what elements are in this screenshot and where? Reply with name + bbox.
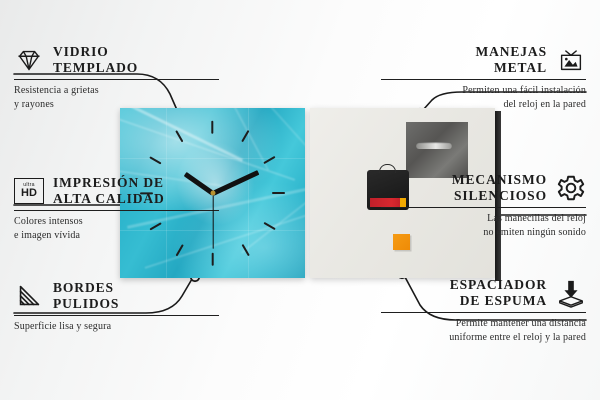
feature-vidrio-templado: VIDRIO TEMPLADO Resistencia a grietas y … <box>14 44 219 111</box>
feature-rule <box>14 315 219 317</box>
feature-title: MECANISMO SILENCIOSO <box>452 172 547 204</box>
feature-header: BORDES PULIDOS <box>14 280 219 312</box>
feature-bordes-pulidos: BORDES PULIDOS Superficie lisa y segura <box>14 280 219 334</box>
feature-rule <box>14 210 219 212</box>
polished-edge-icon <box>14 281 44 311</box>
gear-icon <box>556 173 586 203</box>
feature-description: Permiten una fácil instalación del reloj… <box>381 84 586 110</box>
picture-frame-hanger-icon <box>556 45 586 75</box>
feature-title: IMPRESIÓN DE ALTA CALIDAD <box>53 175 165 207</box>
diamond-icon <box>14 45 44 75</box>
glass-seam <box>120 158 305 159</box>
feature-title: ESPACIADOR DE ESPUMA <box>450 277 547 309</box>
feature-description: Colores intensos e imagen vívida <box>14 215 219 241</box>
feature-title: BORDES PULIDOS <box>53 280 119 312</box>
feature-header: MECANISMO SILENCIOSO <box>381 172 586 204</box>
clock-center-cap <box>210 191 215 196</box>
ultra-hd-icon: ultra HD <box>14 178 44 204</box>
feature-description: Superficie lisa y segura <box>14 320 219 333</box>
metal-hanger-plate <box>406 122 468 178</box>
feature-rule <box>381 312 586 314</box>
feature-header: MANEJAS METAL <box>381 44 586 76</box>
clock-tick <box>211 252 213 265</box>
feature-header: VIDRIO TEMPLADO <box>14 44 219 76</box>
feature-title: VIDRIO TEMPLADO <box>53 44 138 76</box>
feature-rule <box>14 79 219 81</box>
clock-tick <box>211 120 213 133</box>
feature-rule <box>381 79 586 81</box>
feature-espaciador-espuma: ESPACIADOR DE ESPUMA Permite mantener un… <box>381 277 586 344</box>
clock-hand <box>212 193 213 249</box>
feature-description: Resistencia a grietas y rayones <box>14 84 219 110</box>
feature-mecanismo-silencioso: MECANISMO SILENCIOSO Las manecillas del … <box>381 172 586 239</box>
feature-impresion-alta-calidad: ultra HD IMPRESIÓN DE ALTA CALIDAD Color… <box>14 175 219 242</box>
hanger-slot <box>416 142 452 149</box>
feature-rule <box>381 207 586 209</box>
infographic-canvas: VIDRIO TEMPLADO Resistencia a grietas y … <box>0 0 600 400</box>
arrow-foam-pad-icon <box>556 278 586 308</box>
feature-description: Las manecillas del reloj no emiten ningú… <box>381 212 586 238</box>
feature-manejas-metal: MANEJAS METAL Permiten una fácil instala… <box>381 44 586 111</box>
feature-header: ESPACIADOR DE ESPUMA <box>381 277 586 309</box>
feature-title: MANEJAS METAL <box>475 44 547 76</box>
feature-description: Permite mantener una distancia uniforme … <box>381 317 586 343</box>
